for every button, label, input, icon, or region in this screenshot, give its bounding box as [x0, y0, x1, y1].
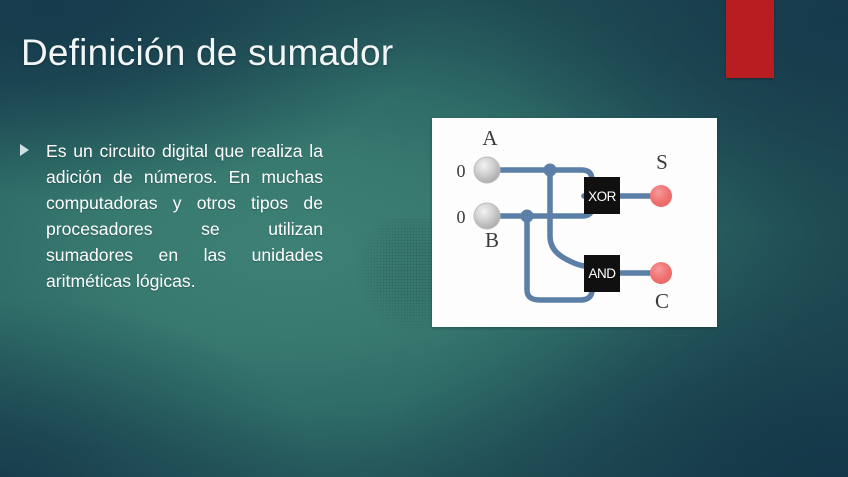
output-label-c: C — [655, 289, 669, 313]
triangle-bullet-icon — [20, 144, 29, 156]
figure-canvas — [432, 118, 717, 327]
circuit-diagram-image: XOR AND A 0 B 0 S C — [432, 118, 717, 327]
output-label-s: S — [656, 150, 668, 174]
half-adder-svg: XOR AND A 0 B 0 S C — [432, 118, 717, 327]
slide-canvas: Definición de sumador Es un circuito dig… — [0, 0, 848, 477]
list-item: Es un circuito digital que realiza la ad… — [18, 138, 323, 294]
gate-xor-label: XOR — [588, 189, 617, 204]
bullet-text: Es un circuito digital que realiza la ad… — [46, 138, 323, 294]
page-title: Definición de sumador — [21, 33, 661, 74]
input-value-b: 0 — [457, 207, 466, 227]
red-accent-bar — [726, 0, 774, 78]
junction-dot-a — [544, 164, 557, 177]
input-node-a — [474, 157, 500, 183]
junction-dot-b — [521, 210, 534, 223]
body-content: Es un circuito digital que realiza la ad… — [18, 138, 323, 294]
output-node-s — [650, 185, 672, 207]
output-node-c — [650, 262, 672, 284]
input-label-a: A — [482, 126, 498, 150]
input-value-a: 0 — [457, 161, 466, 181]
gate-and-label: AND — [588, 266, 616, 281]
input-node-b — [474, 203, 500, 229]
input-label-b: B — [485, 228, 499, 252]
